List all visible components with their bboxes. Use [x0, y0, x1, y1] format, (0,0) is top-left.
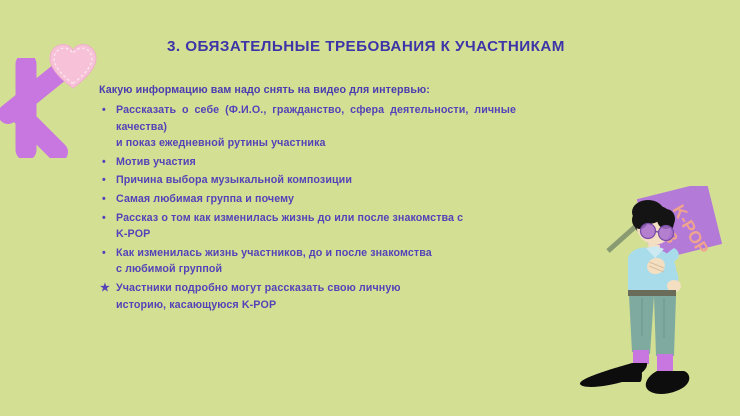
- sock-right-shape: [657, 354, 673, 372]
- list-item-continuation: историю, касающуюся K-POP: [116, 297, 619, 314]
- shoe-right-shape: [646, 371, 690, 394]
- belt-shape: [628, 290, 676, 296]
- shirt-shape: [628, 247, 676, 297]
- pants-right-shape: [654, 296, 676, 356]
- face-shape: [636, 207, 671, 244]
- star-bullet-marker: ★: [100, 280, 110, 297]
- bullet-marker: •: [102, 191, 106, 208]
- arm-shape: [656, 248, 679, 276]
- svg-text:K-POP: K-POP: [669, 201, 712, 257]
- slide-canvas: 3. ОБЯЗАТЕЛЬНЫЕ ТРЕБОВАНИЯ К УЧАСТНИКАМ …: [0, 0, 740, 416]
- list-item-label: Как изменилась жизнь участников, до и по…: [116, 247, 432, 259]
- glasses-shape: [641, 224, 674, 241]
- list-item-label: Рассказ о том как изменилась жизнь до ил…: [116, 212, 463, 224]
- shoe-left-shape: [580, 363, 647, 387]
- list-item-label: Мотив участия: [116, 156, 196, 168]
- list-item: • Мотив участия: [99, 154, 619, 171]
- list-item: • Причина выбора музыкальной композиции: [99, 172, 619, 189]
- list-item-highlight: ★ Участники подробно могут рассказать св…: [99, 280, 619, 313]
- content-body: Какую информацию вам надо снять на видео…: [99, 84, 619, 315]
- list-item-continuation: K-POP: [116, 226, 619, 243]
- list-item-continuation: и показ ежедневной рутины участника: [116, 135, 619, 152]
- sock-left-shape: [633, 350, 649, 364]
- page-title: 3. ОБЯЗАТЕЛЬНЫЕ ТРЕБОВАНИЯ К УЧАСТНИКАМ: [167, 38, 667, 55]
- list-item: • Как изменилась жизнь участников, до и …: [99, 245, 619, 278]
- bullet-marker: •: [102, 154, 106, 171]
- list-item: • Рассказать о себе (Ф.И.О., гражданство…: [99, 102, 619, 152]
- svg-text:I <3: I <3: [651, 212, 682, 246]
- list-item-label: Самая любимая группа и почему: [116, 193, 294, 205]
- list-item: • Самая любимая группа и почему: [99, 191, 619, 208]
- hand-shape: [645, 255, 667, 276]
- lead-question: Какую информацию вам надо снять на видео…: [99, 84, 619, 96]
- bullet-marker: •: [102, 210, 106, 227]
- list-item-label: Рассказать о себе (Ф.И.О., гражданство, …: [116, 102, 516, 135]
- bullet-marker: •: [102, 172, 106, 189]
- list-item-continuation: с любимой группой: [116, 261, 619, 278]
- pants-left-shape: [629, 296, 654, 354]
- heart-icon: [47, 41, 99, 91]
- letter-k-icon: [0, 58, 74, 158]
- list-item: • Рассказ о том как изменилась жизнь до …: [99, 210, 619, 243]
- bullet-marker: •: [102, 245, 106, 262]
- list-item-label: Причина выбора музыкальной композиции: [116, 174, 352, 186]
- sign-board-shape: I <3 K-POP: [637, 186, 724, 268]
- hair-shape: [634, 205, 674, 239]
- bullet-marker: •: [102, 102, 106, 119]
- list-item-label: Участники подробно могут рассказать свою…: [116, 282, 401, 294]
- requirements-list: • Рассказать о себе (Ф.И.О., гражданство…: [99, 102, 619, 313]
